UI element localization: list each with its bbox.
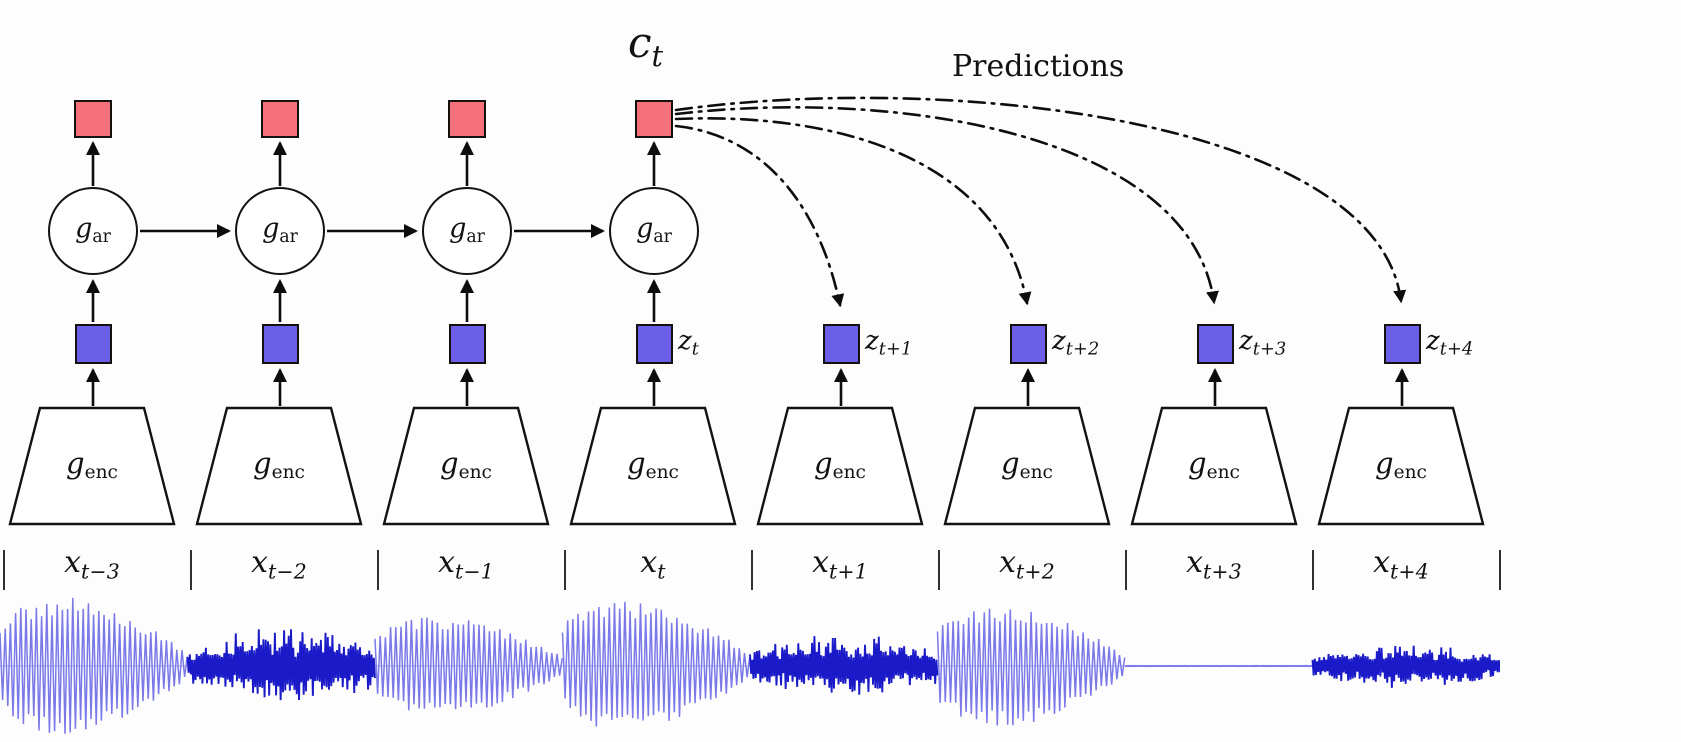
latent-square-4[interactable] bbox=[823, 324, 860, 364]
waveform-segment-x_t-2 bbox=[188, 629, 375, 700]
context-square-0[interactable] bbox=[74, 100, 112, 138]
latent-label-6: zt+3 bbox=[1239, 328, 1286, 359]
autoregressive-node-label-2: gar bbox=[449, 215, 485, 246]
waveform-segment-x_t+1 bbox=[750, 636, 937, 695]
autoregressive-node-label-1: gar bbox=[262, 215, 298, 246]
encoder-label-5: genc bbox=[1001, 449, 1053, 483]
autoregressive-node-0[interactable]: gar bbox=[48, 187, 138, 275]
frame-divider-3 bbox=[564, 550, 566, 590]
prediction-curve-t3 bbox=[676, 107, 1214, 302]
latent-label-3: zt bbox=[678, 328, 699, 359]
encoder-2[interactable]: genc bbox=[382, 406, 550, 526]
input-label-3: xt bbox=[593, 548, 713, 582]
waveform-segment-x_t+4 bbox=[1313, 646, 1500, 688]
encoder-0[interactable]: genc bbox=[8, 406, 176, 526]
latent-to-autoregressive-arrows bbox=[93, 281, 654, 322]
context-subscript: t bbox=[652, 39, 664, 73]
figure-canvas: ct Predictions gar gar gar gar zt zt+1 z… bbox=[0, 0, 1681, 742]
frame-divider-6 bbox=[1125, 550, 1127, 590]
input-label-6: xt+3 bbox=[1154, 548, 1274, 582]
encoder-1[interactable]: genc bbox=[195, 406, 363, 526]
frame-divider-1 bbox=[190, 550, 192, 590]
context-symbol: c bbox=[628, 18, 652, 67]
input-label-2: xt−1 bbox=[406, 548, 526, 582]
latent-label-7: zt+4 bbox=[1426, 328, 1473, 359]
input-label-0: xt−3 bbox=[32, 548, 152, 582]
latent-square-5[interactable] bbox=[1010, 324, 1047, 364]
encoder-label-1: genc bbox=[253, 449, 305, 483]
frame-divider-0 bbox=[3, 550, 5, 590]
context-vector-label: ct bbox=[628, 22, 663, 71]
input-label-4: xt+1 bbox=[780, 548, 900, 582]
encoder-label-2: genc bbox=[440, 449, 492, 483]
encoder-label-0: genc bbox=[66, 449, 118, 483]
autoregressive-node-label-0: gar bbox=[75, 215, 111, 246]
latent-square-0[interactable] bbox=[75, 324, 112, 364]
autoregressive-to-context-arrows bbox=[93, 143, 654, 186]
autoregressive-node-3[interactable]: gar bbox=[609, 187, 699, 275]
latent-label-4: zt+1 bbox=[865, 328, 912, 359]
latent-square-2[interactable] bbox=[449, 324, 486, 364]
encoder-7[interactable]: genc bbox=[1317, 406, 1485, 526]
frame-divider-4 bbox=[751, 550, 753, 590]
encoder-to-latent-arrows bbox=[93, 370, 1402, 406]
autoregressive-node-2[interactable]: gar bbox=[422, 187, 512, 275]
predictions-label: Predictions bbox=[952, 52, 1124, 82]
waveform-segment-x_t-1 bbox=[375, 618, 562, 711]
encoder-6[interactable]: genc bbox=[1130, 406, 1298, 526]
frame-divider-7 bbox=[1312, 550, 1314, 590]
prediction-curves bbox=[676, 98, 1401, 305]
context-square-3[interactable] bbox=[635, 100, 673, 138]
latent-square-6[interactable] bbox=[1197, 324, 1234, 364]
autoregressive-node-label-3: gar bbox=[636, 215, 672, 246]
prediction-curve-t2 bbox=[676, 118, 1027, 303]
input-label-7: xt+4 bbox=[1341, 548, 1461, 582]
frame-divider-8 bbox=[1499, 550, 1501, 590]
waveform-segment-x_t+2 bbox=[938, 609, 1125, 726]
audio-waveform bbox=[0, 592, 1500, 740]
prediction-curve-t1 bbox=[676, 126, 840, 305]
frame-divider-5 bbox=[938, 550, 940, 590]
prediction-curve-t4 bbox=[676, 98, 1401, 301]
encoder-3[interactable]: genc bbox=[569, 406, 737, 526]
autoregressive-node-1[interactable]: gar bbox=[235, 187, 325, 275]
input-label-1: xt−2 bbox=[219, 548, 339, 582]
latent-square-1[interactable] bbox=[262, 324, 299, 364]
latent-label-5: zt+2 bbox=[1052, 328, 1099, 359]
encoder-label-6: genc bbox=[1188, 449, 1240, 483]
context-square-1[interactable] bbox=[261, 100, 299, 138]
encoder-label-7: genc bbox=[1375, 449, 1427, 483]
encoder-4[interactable]: genc bbox=[756, 406, 924, 526]
context-square-2[interactable] bbox=[448, 100, 486, 138]
input-label-5: xt+2 bbox=[967, 548, 1087, 582]
encoder-5[interactable]: genc bbox=[943, 406, 1111, 526]
frame-divider-2 bbox=[377, 550, 379, 590]
latent-square-3[interactable] bbox=[636, 324, 673, 364]
encoder-label-3: genc bbox=[627, 449, 679, 483]
waveform-segment-x_t bbox=[563, 602, 750, 727]
latent-square-7[interactable] bbox=[1384, 324, 1421, 364]
encoder-label-4: genc bbox=[814, 449, 866, 483]
